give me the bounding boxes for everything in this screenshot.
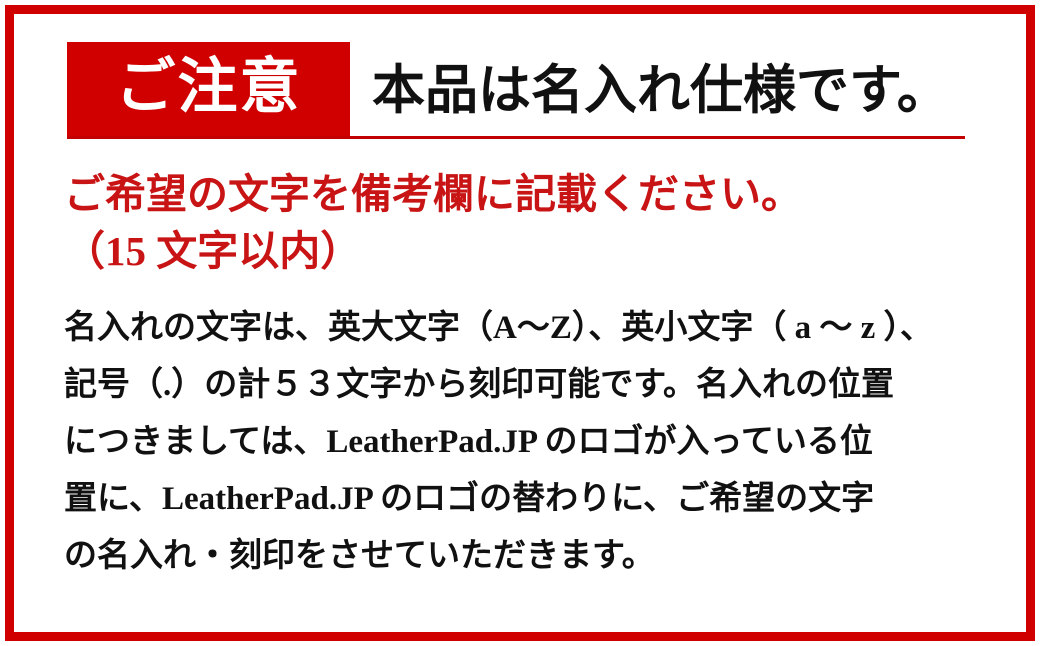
header-divider-rule: [67, 136, 965, 139]
body-line: の名入れ・刻印をさせていただきます。: [64, 528, 984, 585]
attention-badge: ご注意: [67, 42, 350, 136]
body-line: につきましては、LeatherPad.JP のロゴが入っている位: [64, 414, 984, 471]
body-line: 記号（.）の計５３文字から刻印可能です。名入れの位置: [64, 357, 984, 414]
notice-title-text: 本品は名入れ仕様です。: [372, 65, 950, 118]
notice-content: ご注意 本品は名入れ仕様です。 ご希望の文字を備考欄に記載ください。 （15 文…: [0, 0, 1040, 646]
body-line: 名入れの文字は、英大文字（A〜Z）、英小文字（ a 〜 z ）、: [64, 300, 984, 357]
notice-header: ご注意 本品は名入れ仕様です。: [67, 42, 967, 136]
highlight-line: ご希望の文字を備考欄に記載ください。: [64, 166, 984, 223]
name-engraving-notice-card: ご注意 本品は名入れ仕様です。 ご希望の文字を備考欄に記載ください。 （15 文…: [0, 0, 1040, 646]
attention-badge-label: ご注意: [116, 57, 302, 117]
highlight-line: （15 文字以内）: [64, 223, 984, 280]
body-line: 置に、LeatherPad.JP のロゴの替わりに、ご希望の文字: [64, 471, 984, 528]
notice-title: 本品は名入れ仕様です。: [372, 42, 950, 136]
body-paragraph: 名入れの文字は、英大文字（A〜Z）、英小文字（ a 〜 z ）、 記号（.）の計…: [64, 300, 984, 585]
highlight-instruction-block: ご希望の文字を備考欄に記載ください。 （15 文字以内）: [64, 166, 984, 280]
